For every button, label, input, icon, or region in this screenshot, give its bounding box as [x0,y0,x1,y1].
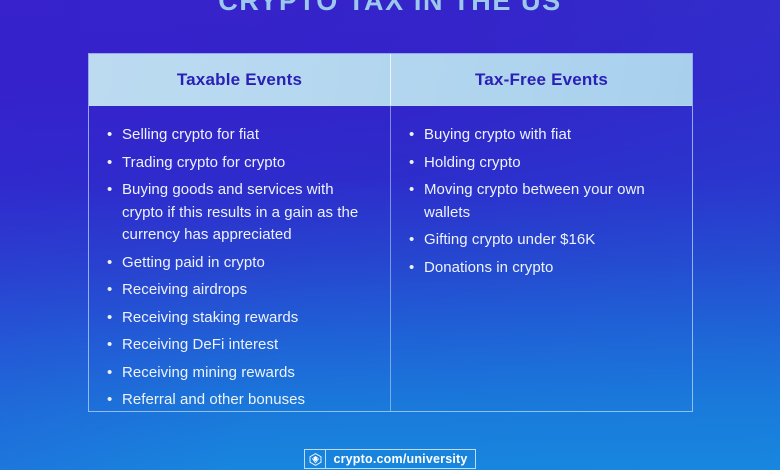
list-item: Buying crypto with fiat [407,124,678,147]
list-item: Getting paid in crypto [105,252,376,275]
table-header-row: Taxable Events Tax-Free Events [89,54,692,106]
list-item: Moving crypto between your own wallets [407,179,678,224]
column-header-tax-free-events: Tax-Free Events [391,54,692,105]
list-item: Referral and other bonuses [105,389,376,412]
comparison-table: Taxable Events Tax-Free Events Selling c… [88,53,693,412]
list-item: Gifting crypto under $16K [407,229,678,252]
page-title: CRYPTO TAX IN THE US [0,0,780,18]
list-item: Selling crypto for fiat [105,124,376,147]
tax-free-events-list: Buying crypto with fiat Holding crypto M… [407,124,678,279]
list-item: Receiving airdrops [105,279,376,302]
footer-url-text: crypto.com/university [326,450,474,468]
list-item: Holding crypto [407,152,678,175]
footer-badge: crypto.com/university [304,449,475,469]
table-cell-tax-free-events: Buying crypto with fiat Holding crypto M… [391,106,692,411]
poster-canvas: CRYPTO TAX IN THE US Taxable Events Tax-… [0,0,780,470]
list-item: Receiving mining rewards [105,362,376,385]
list-item: Donations in crypto [407,257,678,280]
table-cell-taxable-events: Selling crypto for fiat Trading crypto f… [89,106,391,411]
crypto-com-logo-icon [305,450,326,468]
list-item: Buying goods and services with crypto if… [105,179,376,247]
table-body-row: Selling crypto for fiat Trading crypto f… [89,106,692,411]
footer: crypto.com/university [0,449,780,469]
list-item: Receiving staking rewards [105,307,376,330]
taxable-events-list: Selling crypto for fiat Trading crypto f… [105,124,376,412]
list-item: Receiving DeFi interest [105,334,376,357]
list-item: Trading crypto for crypto [105,152,376,175]
column-header-taxable-events: Taxable Events [89,54,391,105]
